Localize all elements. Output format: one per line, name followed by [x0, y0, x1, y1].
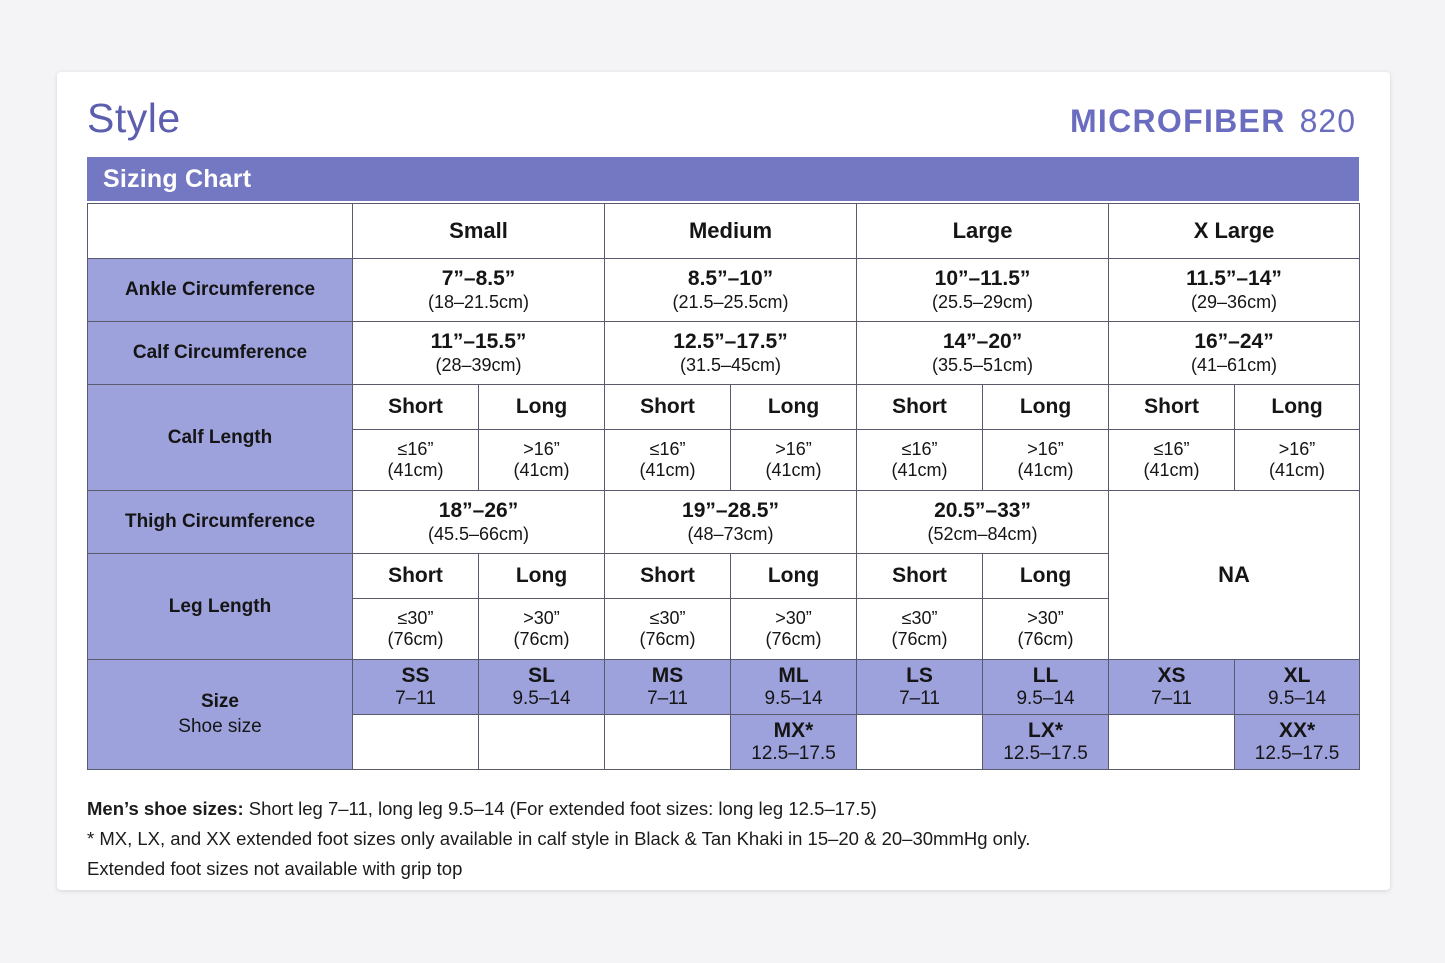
- card-header: Style MICROFIBER820: [57, 72, 1390, 144]
- cell-ankle-large: 10”–11.5” (25.5–29cm): [857, 259, 1109, 322]
- footnote-line-1-text: Short leg 7–11, long leg 9.5–14 (For ext…: [244, 798, 877, 819]
- size-code: XL: [1235, 664, 1359, 688]
- table-row-thigh-circumference: Thigh Circumference 18”–26” (45.5–66cm) …: [88, 491, 1360, 554]
- cell-ankle-x-large: 11.5”–14” (29–36cm): [1109, 259, 1360, 322]
- footnote-line-2: * MX, LX, and XX extended foot sizes onl…: [87, 824, 1367, 854]
- value-cm: (28–39cm): [353, 355, 604, 377]
- value-cm: (31.5–45cm): [605, 355, 856, 377]
- cell-calf-length-1: >16” (41cm): [479, 430, 605, 491]
- cell-size-code-ss: SS 7–11: [353, 660, 479, 715]
- cell-calf-length-7: >16” (41cm): [1235, 430, 1360, 491]
- row-label-leg-length: Leg Length: [88, 554, 353, 660]
- value-cm: (76cm): [353, 629, 478, 651]
- brand-block: MICROFIBER820: [1070, 105, 1356, 137]
- value-inches: ≤16”: [605, 439, 730, 460]
- value-cm: (41cm): [605, 460, 730, 482]
- value-cm: (41cm): [479, 460, 604, 482]
- row-label-thigh-circumference: Thigh Circumference: [88, 491, 353, 554]
- shoe-size: 9.5–14: [1235, 688, 1359, 711]
- cell-size-code-ll: LL 9.5–14: [983, 660, 1109, 715]
- cell-ankle-small: 7”–8.5” (18–21.5cm): [353, 259, 605, 322]
- cell-thigh-large: 20.5”–33” (52cm–84cm): [857, 491, 1109, 554]
- subheader-calf-length-3: Long: [731, 385, 857, 430]
- value-cm: (18–21.5cm): [353, 292, 604, 314]
- value-cm: (76cm): [731, 629, 856, 651]
- cell-calf-length-2: ≤16” (41cm): [605, 430, 731, 491]
- subheader-leg-length-0: Short: [353, 554, 479, 599]
- cell-leg-length-4: ≤30” (76cm): [857, 599, 983, 660]
- size-code: XS: [1109, 664, 1234, 688]
- cell-leg-length-2: ≤30” (76cm): [605, 599, 731, 660]
- value-inches: 20.5”–33”: [857, 499, 1108, 524]
- cell-calf-circ-small: 11”–15.5” (28–39cm): [353, 322, 605, 385]
- subheader-calf-length-5: Long: [983, 385, 1109, 430]
- column-header-large: Large: [857, 204, 1109, 259]
- value-inches: >30”: [983, 608, 1108, 629]
- cell-calf-length-4: ≤16” (41cm): [857, 430, 983, 491]
- size-code: MX*: [731, 719, 856, 743]
- shoe-size: 12.5–17.5: [731, 743, 856, 766]
- cell-calf-length-0: ≤16” (41cm): [353, 430, 479, 491]
- cell-calf-length-5: >16” (41cm): [983, 430, 1109, 491]
- row-label-size: Size Shoe size: [88, 660, 353, 770]
- subheader-leg-length-5: Long: [983, 554, 1109, 599]
- size-code: LS: [857, 664, 982, 688]
- value-inches: 16”–24”: [1109, 330, 1359, 355]
- size-code: SS: [353, 664, 478, 688]
- value-cm: (41cm): [983, 460, 1108, 482]
- value-cm: (76cm): [605, 629, 730, 651]
- cell-size-code-ls: LS 7–11: [857, 660, 983, 715]
- subheader-calf-length-1: Long: [479, 385, 605, 430]
- cell-thigh-medium: 19”–28.5” (48–73cm): [605, 491, 857, 554]
- sizing-table: Small Medium Large X Large Ankle Circumf…: [87, 203, 1360, 770]
- value-cm: (25.5–29cm): [857, 292, 1108, 314]
- table-row-size-codes: Size Shoe size SS 7–11 SL 9.5–14 MS 7–11…: [88, 660, 1360, 715]
- brand-name: MICROFIBER: [1070, 103, 1286, 139]
- subheader-leg-length-4: Short: [857, 554, 983, 599]
- value-cm: (41cm): [1235, 460, 1359, 482]
- row-label-ankle-circumference: Ankle Circumference: [88, 259, 353, 322]
- footnote-line-1: Men’s shoe sizes: Short leg 7–11, long l…: [87, 794, 1367, 824]
- value-cm: (76cm): [983, 629, 1108, 651]
- value-inches: 11”–15.5”: [353, 330, 604, 355]
- footnote-line-3: Extended foot sizes not available with g…: [87, 854, 1367, 884]
- row-label-size-sub: Shoe size: [88, 715, 352, 739]
- footnotes: Men’s shoe sizes: Short leg 7–11, long l…: [87, 794, 1367, 884]
- value-cm: (41cm): [353, 460, 478, 482]
- cell-ankle-medium: 8.5”–10” (21.5–25.5cm): [605, 259, 857, 322]
- size-code: XX*: [1235, 719, 1359, 743]
- value-inches: 12.5”–17.5”: [605, 330, 856, 355]
- value-inches: >30”: [731, 608, 856, 629]
- cell-extended-code-mx: MX* 12.5–17.5: [731, 715, 857, 770]
- value-inches: 10”–11.5”: [857, 267, 1108, 292]
- subheader-leg-length-1: Long: [479, 554, 605, 599]
- sizing-chart-title-bar: Sizing Chart: [87, 157, 1359, 201]
- header-spacer: [88, 204, 353, 259]
- cell-size-code-ms: MS 7–11: [605, 660, 731, 715]
- value-cm: (41cm): [1109, 460, 1234, 482]
- value-cm: (52cm–84cm): [857, 524, 1108, 546]
- cell-calf-length-6: ≤16” (41cm): [1109, 430, 1235, 491]
- table-row-calf-circumference: Calf Circumference 11”–15.5” (28–39cm) 1…: [88, 322, 1360, 385]
- value-cm: (21.5–25.5cm): [605, 292, 856, 314]
- row-label-calf-length: Calf Length: [88, 385, 353, 491]
- value-inches: 8.5”–10”: [605, 267, 856, 292]
- value-inches: >16”: [479, 439, 604, 460]
- shoe-size: 12.5–17.5: [1235, 743, 1359, 766]
- value-inches: >16”: [983, 439, 1108, 460]
- value-inches: >16”: [1235, 439, 1359, 460]
- value-cm: (76cm): [857, 629, 982, 651]
- cell-extended-empty-0: [353, 715, 479, 770]
- sizing-chart-title: Sizing Chart: [103, 165, 251, 194]
- subheader-calf-length-2: Short: [605, 385, 731, 430]
- footnote-label-mens-shoe-sizes: Men’s shoe sizes:: [87, 798, 244, 819]
- size-code: ML: [731, 664, 856, 688]
- cell-extended-empty-4: [857, 715, 983, 770]
- column-header-x-large: X Large: [1109, 204, 1360, 259]
- subheader-leg-length-3: Long: [731, 554, 857, 599]
- size-code: LL: [983, 664, 1108, 688]
- value-cm: (45.5–66cm): [353, 524, 604, 546]
- cell-extended-empty-1: [479, 715, 605, 770]
- value-inches: ≤30”: [857, 608, 982, 629]
- shoe-size: 7–11: [353, 688, 478, 711]
- value-cm: (76cm): [479, 629, 604, 651]
- shoe-size: 9.5–14: [731, 688, 856, 711]
- value-inches: >30”: [479, 608, 604, 629]
- value-inches: ≤16”: [1109, 439, 1234, 460]
- cell-not-available: NA: [1109, 491, 1360, 660]
- value-inches: ≤30”: [353, 608, 478, 629]
- value-cm: (29–36cm): [1109, 292, 1359, 314]
- value-inches: 18”–26”: [353, 499, 604, 524]
- table-row-ankle-circumference: Ankle Circumference 7”–8.5” (18–21.5cm) …: [88, 259, 1360, 322]
- value-cm: (41cm): [731, 460, 856, 482]
- row-label-size-main: Size: [201, 691, 239, 712]
- shoe-size: 7–11: [857, 688, 982, 711]
- cell-calf-length-3: >16” (41cm): [731, 430, 857, 491]
- brand-number: 820: [1300, 103, 1356, 139]
- sizing-chart-page: Style MICROFIBER820 Sizing Chart Small M…: [0, 0, 1445, 963]
- shoe-size: 12.5–17.5: [983, 743, 1108, 766]
- cell-extended-code-xx: XX* 12.5–17.5: [1235, 715, 1360, 770]
- shoe-size: 9.5–14: [983, 688, 1108, 711]
- cell-size-code-xs: XS 7–11: [1109, 660, 1235, 715]
- cell-leg-length-1: >30” (76cm): [479, 599, 605, 660]
- cell-calf-circ-large: 14”–20” (35.5–51cm): [857, 322, 1109, 385]
- subheader-calf-length-4: Short: [857, 385, 983, 430]
- table-row-calf-length-subheaders: Calf Length Short Long Short Long Short …: [88, 385, 1360, 430]
- value-inches: 7”–8.5”: [353, 267, 604, 292]
- size-code: LX*: [983, 719, 1108, 743]
- cell-leg-length-3: >30” (76cm): [731, 599, 857, 660]
- column-header-medium: Medium: [605, 204, 857, 259]
- style-label: Style: [87, 98, 181, 139]
- cell-calf-circ-medium: 12.5”–17.5” (31.5–45cm): [605, 322, 857, 385]
- size-code: SL: [479, 664, 604, 688]
- value-inches: ≤16”: [353, 439, 478, 460]
- column-header-small: Small: [353, 204, 605, 259]
- cell-size-code-ml: ML 9.5–14: [731, 660, 857, 715]
- value-cm: (48–73cm): [605, 524, 856, 546]
- cell-extended-empty-6: [1109, 715, 1235, 770]
- shoe-size: 9.5–14: [479, 688, 604, 711]
- cell-size-code-xl: XL 9.5–14: [1235, 660, 1360, 715]
- shoe-size: 7–11: [605, 688, 730, 711]
- subheader-calf-length-6: Short: [1109, 385, 1235, 430]
- cell-thigh-small: 18”–26” (45.5–66cm): [353, 491, 605, 554]
- size-code: MS: [605, 664, 730, 688]
- subheader-calf-length-0: Short: [353, 385, 479, 430]
- subheader-calf-length-7: Long: [1235, 385, 1360, 430]
- row-label-calf-circumference: Calf Circumference: [88, 322, 353, 385]
- cell-calf-circ-x-large: 16”–24” (41–61cm): [1109, 322, 1360, 385]
- value-inches: 19”–28.5”: [605, 499, 856, 524]
- value-cm: (41cm): [857, 460, 982, 482]
- value-cm: (41–61cm): [1109, 355, 1359, 377]
- cell-leg-length-0: ≤30” (76cm): [353, 599, 479, 660]
- table-row-size-headers: Small Medium Large X Large: [88, 204, 1360, 259]
- value-inches: ≤30”: [605, 608, 730, 629]
- cell-leg-length-5: >30” (76cm): [983, 599, 1109, 660]
- cell-size-code-sl: SL 9.5–14: [479, 660, 605, 715]
- value-inches: >16”: [731, 439, 856, 460]
- value-inches: 14”–20”: [857, 330, 1108, 355]
- shoe-size: 7–11: [1109, 688, 1234, 711]
- chart-card: Style MICROFIBER820 Sizing Chart Small M…: [57, 72, 1390, 890]
- subheader-leg-length-2: Short: [605, 554, 731, 599]
- value-inches: ≤16”: [857, 439, 982, 460]
- value-inches: 11.5”–14”: [1109, 267, 1359, 292]
- value-cm: (35.5–51cm): [857, 355, 1108, 377]
- cell-extended-empty-2: [605, 715, 731, 770]
- cell-extended-code-lx: LX* 12.5–17.5: [983, 715, 1109, 770]
